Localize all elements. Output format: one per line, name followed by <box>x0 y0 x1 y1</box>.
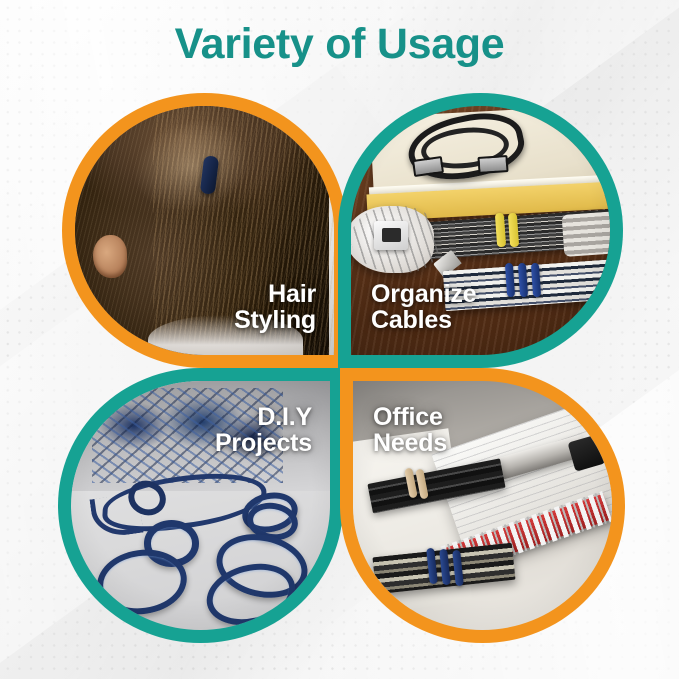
panel-border-ring: Hair Styling <box>62 93 347 368</box>
panel-diy-projects[interactable]: D.I.Y Projects <box>58 368 343 643</box>
infographic-canvas: Variety of Usage <box>0 0 679 679</box>
panel-photo: D.I.Y Projects <box>71 381 330 630</box>
panel-caption: Organize Cables <box>371 282 476 333</box>
panel-caption: Office Needs <box>373 405 447 456</box>
panel-photo: Office Needs <box>353 381 612 630</box>
panel-photo: Organize Cables <box>351 106 610 355</box>
panel-photo: Hair Styling <box>75 106 334 355</box>
panel-hair-styling[interactable]: Hair Styling <box>62 93 347 368</box>
panel-border-ring: Organize Cables <box>338 93 623 368</box>
panel-border-ring: D.I.Y Projects <box>58 368 343 643</box>
panel-border-ring: Office Needs <box>340 368 625 643</box>
panel-caption: D.I.Y Projects <box>215 405 312 456</box>
usage-panel-grid: Hair Styling <box>0 88 679 658</box>
panel-organize-cables[interactable]: Organize Cables <box>338 93 623 368</box>
page-title: Variety of Usage <box>0 22 679 67</box>
panel-caption: Hair Styling <box>234 282 316 333</box>
panel-office-needs[interactable]: Office Needs <box>340 368 625 643</box>
